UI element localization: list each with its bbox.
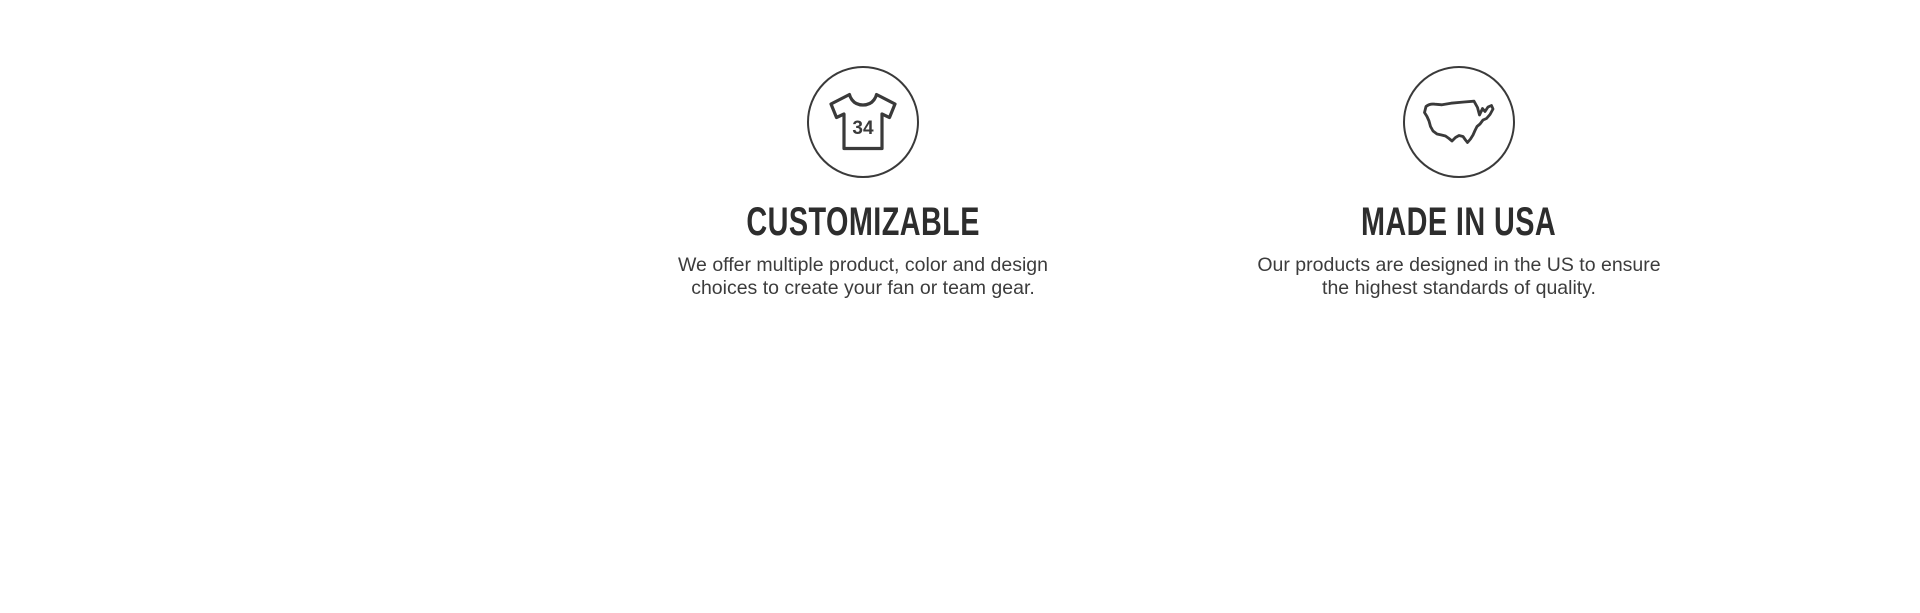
feature-body-made-in-usa: Our products are designed in the US to e… [1244, 254, 1674, 300]
feature-body-customizable: We offer multiple product, color and des… [663, 254, 1063, 300]
feature-card-made-in-usa: MADE IN USA Our products are designed in… [1161, 66, 1757, 300]
jersey-number-text: 34 [852, 118, 874, 139]
tshirt-number-icon: 34 [807, 66, 919, 178]
feature-heading-customizable: CUSTOMIZABLE [746, 202, 979, 242]
feature-card-customizable: 34 CUSTOMIZABLE We offer multiple produc… [565, 66, 1161, 300]
features-section: 34 CUSTOMIZABLE We offer multiple produc… [0, 0, 1920, 300]
feature-heading-made-in-usa: MADE IN USA [1361, 202, 1556, 242]
usa-map-icon [1403, 66, 1515, 178]
